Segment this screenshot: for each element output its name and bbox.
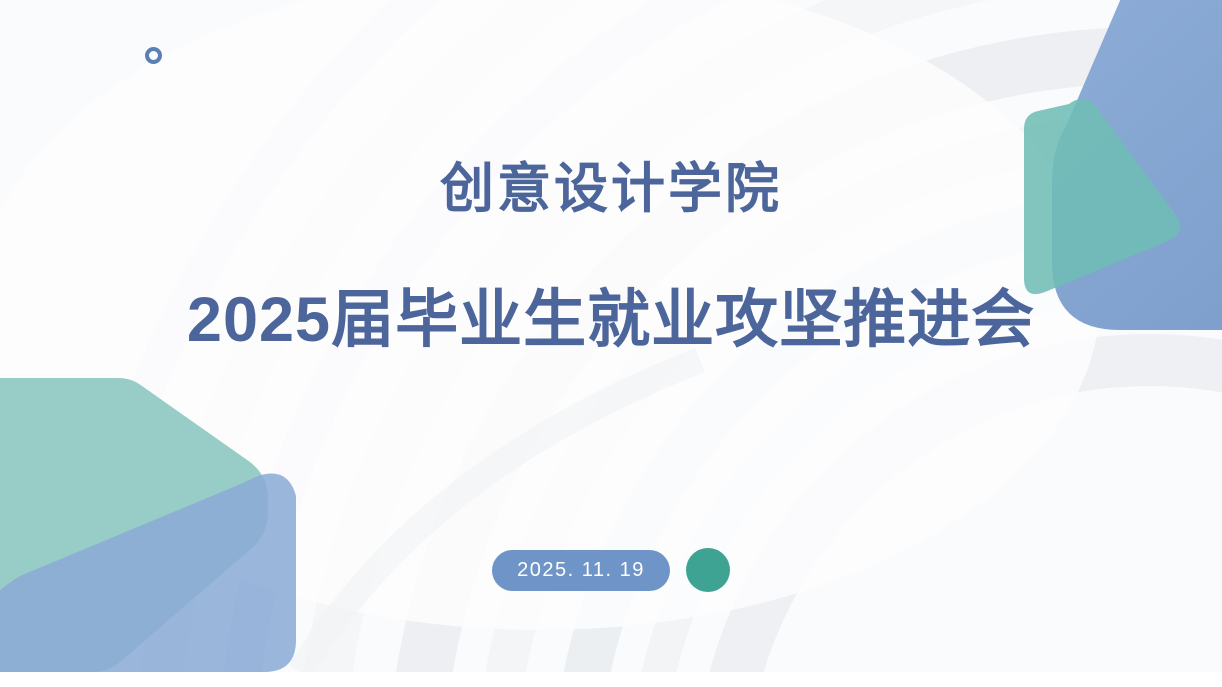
accent-dot-icon	[686, 548, 730, 592]
presentation-slide: 创意设计学院 2025届毕业生就业攻坚推进会 2025. 11. 19	[0, 0, 1222, 687]
slide-canvas: 创意设计学院 2025届毕业生就业攻坚推进会 2025. 11. 19	[0, 0, 1222, 672]
circle-outline-icon	[145, 47, 162, 64]
date-badge: 2025. 11. 19	[492, 550, 670, 591]
bottom-white-strip	[0, 672, 1222, 687]
date-row: 2025. 11. 19	[0, 548, 1222, 592]
